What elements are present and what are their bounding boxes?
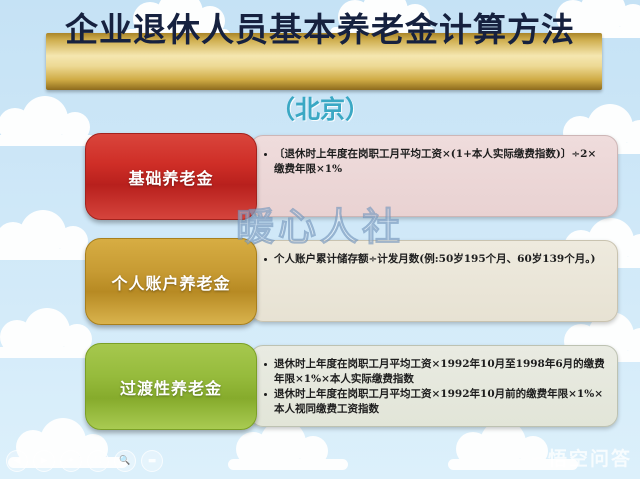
bullet-item: 〔退休时上年度在岗职工月平均工资×(1+本人实际缴费指数)〕÷2×缴费年限×1% [263, 147, 605, 176]
brand-logo-icon: ∽ [530, 449, 543, 467]
menu-button[interactable]: ▬ [141, 450, 163, 472]
content-row: 基础养老金 〔退休时上年度在岗职工月平均工资×(1+本人实际缴费指数)〕÷2×缴… [0, 133, 640, 225]
bullet-list: 个人账户累计储存额÷计发月数(例:50岁195个月、60岁139个月。) [263, 252, 605, 267]
presentation-slide: 企业退休人员基本养老金计算方法 （北京） 基础养老金 〔退休时上年度在岗职工月平… [0, 0, 640, 479]
brand-watermark: ∽ 悟空问答 [530, 444, 632, 471]
page-title: 企业退休人员基本养老金计算方法 [0, 0, 640, 55]
search-button[interactable]: 🔍 [114, 450, 136, 472]
previous-button[interactable]: ◀ [6, 450, 28, 472]
category-label-personal-account-pension: 个人账户养老金 [85, 238, 257, 325]
content-row: 个人账户养老金 个人账户累计储存额÷计发月数(例:50岁195个月、60岁139… [0, 238, 640, 330]
category-label-basic-pension: 基础养老金 [85, 133, 257, 220]
cloud-decoration [228, 436, 348, 470]
play-button[interactable]: ▶ [33, 450, 55, 472]
formula-panel-basic-pension: 〔退休时上年度在岗职工月平均工资×(1+本人实际缴费指数)〕÷2×缴费年限×1% [250, 135, 618, 217]
formula-panel-transitional-pension: 退休时上年度在岗职工月平均工资×1992年10月至1998年6月的缴费年限×1%… [250, 345, 618, 427]
player-control-bar: ◀ ▶ ✦ ⛶ 🔍 ▬ [6, 450, 163, 472]
bullet-item: 退休时上年度在岗职工月平均工资×1992年10月至1998年6月的缴费年限×1%… [263, 357, 605, 386]
next-button[interactable]: ✦ [60, 450, 82, 472]
brand-watermark-label: 悟空问答 [548, 444, 632, 471]
fullscreen-button[interactable]: ⛶ [87, 450, 109, 472]
bullet-list: 〔退休时上年度在岗职工月平均工资×(1+本人实际缴费指数)〕÷2×缴费年限×1% [263, 147, 605, 176]
bullet-item: 退休时上年度在岗职工月平均工资×1992年10月前的缴费年限×1%×本人视同缴费… [263, 387, 605, 416]
bullet-list: 退休时上年度在岗职工月平均工资×1992年10月至1998年6月的缴费年限×1%… [263, 357, 605, 416]
page-subtitle: （北京） [0, 91, 640, 125]
content-row: 过渡性养老金 退休时上年度在岗职工月平均工资×1992年10月至1998年6月的… [0, 343, 640, 435]
category-label-transitional-pension: 过渡性养老金 [85, 343, 257, 430]
formula-panel-personal-account-pension: 个人账户累计储存额÷计发月数(例:50岁195个月、60岁139个月。) [250, 240, 618, 322]
bullet-item: 个人账户累计储存额÷计发月数(例:50岁195个月、60岁139个月。) [263, 252, 605, 267]
